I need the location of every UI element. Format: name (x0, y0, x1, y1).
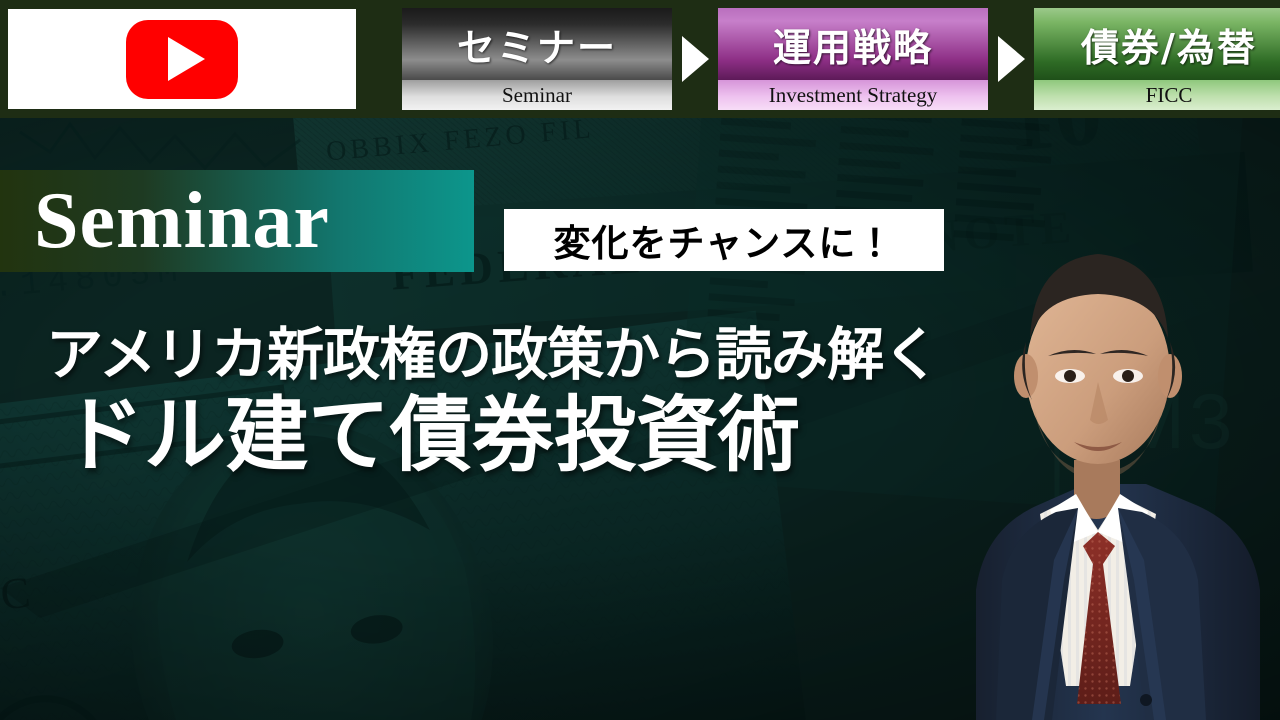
breadcrumb-ficc-en: FICC (1034, 80, 1280, 110)
tagline-text: 変化をチャンスに！ (554, 213, 895, 267)
breadcrumb-item-seminar[interactable]: セミナー Seminar (402, 8, 672, 110)
play-triangle-icon (168, 37, 205, 81)
breadcrumb-ficc-jp: 債券/為替 (1034, 8, 1280, 80)
seminar-banner: Seminar (0, 170, 474, 272)
breadcrumb-strategy-jp: 運用戦略 (718, 8, 988, 80)
youtube-play-icon (126, 20, 238, 99)
arrow-triangle-1 (682, 36, 709, 82)
seminar-banner-label: Seminar (34, 181, 330, 261)
headline-block: アメリカ新政権の政策から読み解く ドル建て債券投資術 (0, 326, 1060, 480)
headline-line-1: アメリカ新政権の政策から読み解く (0, 326, 1060, 386)
breadcrumb-seminar-jp: セミナー (402, 8, 672, 80)
thumbnail-stage: 00C 10 OBBIX FEZO FIL FEDERAL RESERVE NO… (0, 0, 1280, 720)
arrow-right-icon-2 (988, 36, 1034, 82)
presenter-illustration (956, 160, 1280, 720)
breadcrumb-item-ficc[interactable]: 債券/為替 FICC (1034, 8, 1280, 110)
arrow-triangle-2 (998, 36, 1025, 82)
breadcrumb-seminar-en: Seminar (402, 80, 672, 110)
presenter-photo (956, 160, 1280, 720)
youtube-logo-box[interactable] (8, 9, 356, 109)
breadcrumb-strategy-en: Investment Strategy (718, 80, 988, 110)
breadcrumb-item-investment-strategy[interactable]: 運用戦略 Investment Strategy (718, 8, 988, 110)
arrow-right-icon-1 (672, 36, 718, 82)
header-bar: セミナー Seminar 運用戦略 Investment Strategy 債券… (0, 0, 1280, 118)
headline-line-2: ドル建て債券投資術 (0, 392, 1060, 481)
tagline-box: 変化をチャンスに！ (504, 209, 944, 271)
